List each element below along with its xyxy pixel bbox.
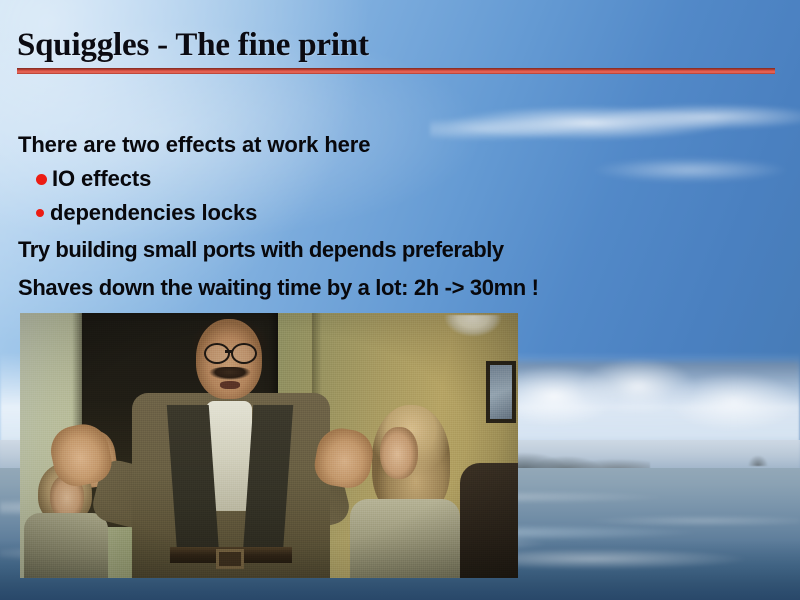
body-line-intro: There are two effects at work here (18, 132, 800, 158)
bullet-label: IO effects (52, 166, 151, 192)
slide-body: There are two effects at work here IO ef… (0, 132, 800, 301)
bullet-dot-icon (36, 209, 44, 217)
body-line-waiting-time: Shaves down the waiting time by a lot: 2… (18, 275, 800, 301)
slide-title: Squiggles - The fine print (17, 26, 369, 64)
bullet-item-io-effects: IO effects (36, 166, 800, 192)
bullet-item-dependencies-locks: dependencies locks (36, 200, 800, 226)
bullet-label: dependencies locks (50, 200, 257, 226)
bullet-dot-icon (36, 174, 47, 185)
headland-silhouette (500, 442, 650, 470)
title-underline-rule (17, 68, 775, 74)
sea-stack-rock (745, 452, 771, 466)
presentation-slide: Squiggles - The fine print There are two… (0, 0, 800, 600)
cloud-lumps (500, 348, 800, 444)
photo-vignette (20, 313, 518, 578)
body-line-ports: Try building small ports with depends pr… (18, 237, 800, 263)
embedded-photo (20, 313, 518, 578)
